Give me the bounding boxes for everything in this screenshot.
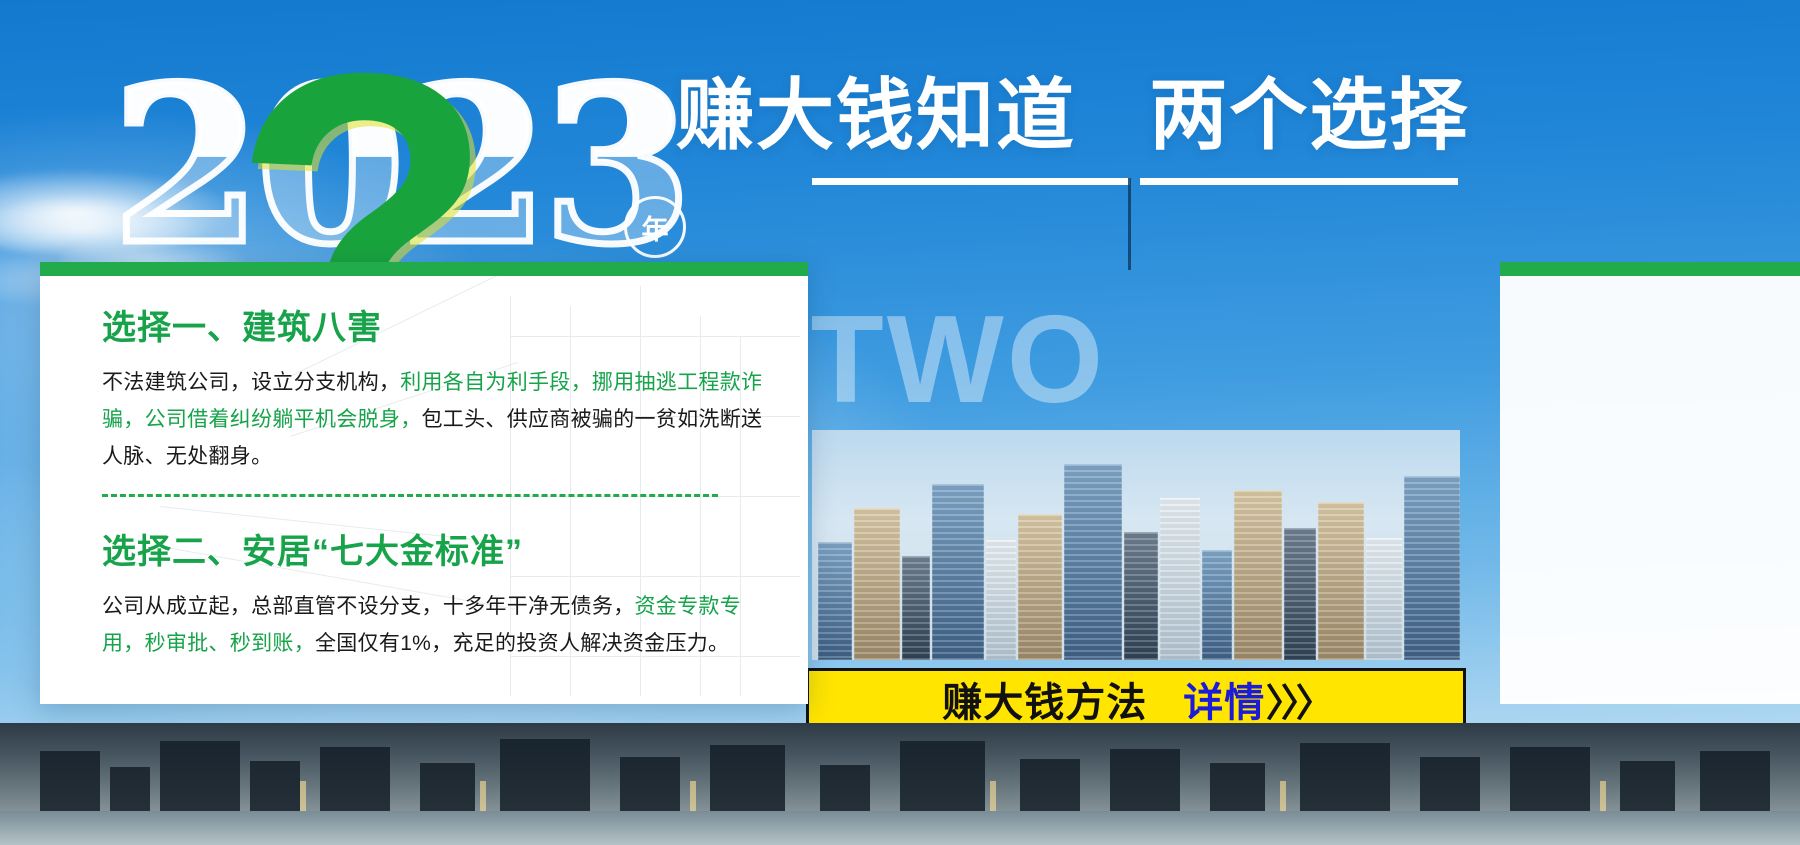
cta-details-link[interactable]: 详情 〉〉〉: [1183, 670, 1329, 728]
section-2-body: 公司从成立起，总部直管不设分支，十多年干净无债务，资金专款专用，秒审批、秒到账，…: [102, 589, 774, 663]
section-2-body-part: 公司从成立起，总部直管不设分支，十多年干净无债务，: [102, 595, 635, 618]
cta-link-text: 详情: [1183, 681, 1265, 725]
card-section-1: 选择一、建筑八害 不法建筑公司，设立分支机构，利用各自为利手段，挪用抽逃工程款诈…: [102, 310, 774, 476]
banner-root: 2023 2023 年 赚大钱知道 两个选择 TWO CHOICES: [0, 0, 1800, 845]
right-white-edge: [1500, 262, 1800, 704]
building: [1234, 490, 1282, 660]
page-title: 赚大钱知道 两个选择: [676, 76, 1469, 154]
section-1-title: 选择一、建筑八害: [102, 310, 774, 347]
building: [1018, 514, 1062, 660]
building: [1318, 502, 1364, 660]
cta-label: 赚大钱方法: [942, 670, 1147, 728]
headline-left: 赚大钱知道: [676, 71, 1076, 159]
watermark-line-1: TWO: [812, 291, 1106, 429]
card-section-2: 选择二、安居“七大金标准” 公司从成立起，总部直管不设分支，十多年干净无债务，资…: [102, 534, 774, 663]
headline-rule-left: [812, 178, 1130, 185]
building: [1160, 498, 1200, 660]
section-2-body-part: 全国仅有1%，充足的投资人解决资金压力。: [315, 632, 729, 655]
building: [1284, 528, 1316, 660]
section-divider: [102, 494, 718, 497]
building: [818, 542, 852, 660]
card-top-green-bar: [40, 262, 808, 276]
headline-rule-right: [1140, 178, 1458, 185]
content-card: 选择一、建筑八害 不法建筑公司，设立分支机构，利用各自为利手段，挪用抽逃工程款诈…: [40, 262, 808, 704]
building: [932, 484, 984, 660]
cta-banner[interactable]: 赚大钱方法 详情 〉〉〉: [806, 668, 1466, 730]
building: [986, 540, 1016, 660]
building: [1064, 464, 1122, 660]
building: [1202, 550, 1232, 660]
building: [1124, 532, 1158, 660]
section-2-title: 选择二、安居“七大金标准”: [102, 534, 774, 571]
bottom-photo-strip: [0, 723, 1800, 845]
section-1-body-part: 不法建筑公司，设立分支机构，: [102, 371, 400, 394]
chevron-right-icon: 〉〉〉: [1266, 672, 1330, 727]
city-skyline-photo: [812, 430, 1460, 660]
right-green-edge: [1500, 262, 1800, 276]
headline-right: 两个选择: [1149, 71, 1469, 159]
building: [1404, 476, 1460, 660]
building: [902, 556, 930, 660]
year-suffix-badge: 年: [624, 196, 686, 258]
section-1-body: 不法建筑公司，设立分支机构，利用各自为利手段，挪用抽逃工程款诈骗，公司借着纠纷躺…: [102, 365, 774, 475]
building: [854, 508, 900, 660]
building: [1366, 538, 1402, 660]
